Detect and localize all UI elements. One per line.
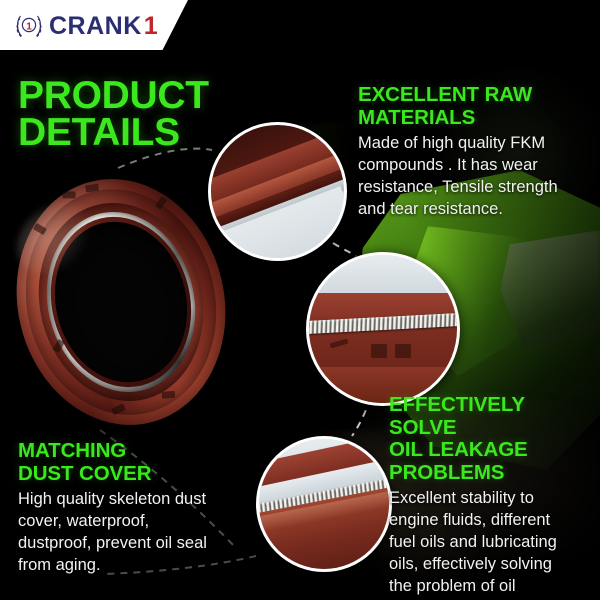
- svg-text:1: 1: [26, 20, 32, 32]
- feature-body-line: oils, effectively solving: [389, 554, 595, 576]
- feature-block-matching-dust-cover: MATCHING DUST COVER High quality skeleto…: [18, 440, 244, 577]
- feature-body-line: the problem of oil: [389, 576, 595, 598]
- feature-heading-line: EXCELLENT RAW: [358, 84, 592, 107]
- laurel-wreath-number-one-icon: 1: [14, 11, 44, 41]
- feature-heading-line: EFFECTIVELY SOLVE: [389, 394, 595, 439]
- callout-notch: [395, 344, 411, 358]
- product-details-infographic: 1 CRANK1 PRODUCT DETAILS EXCELLENT RAW M…: [0, 0, 600, 600]
- feature-body-line: cover, waterproof,: [18, 511, 244, 533]
- feature-body: High quality skeleton dust cover, waterp…: [18, 489, 244, 577]
- feature-body-line: Made of high quality FKM: [358, 133, 592, 155]
- callout-garter-spring-detail: [306, 252, 460, 406]
- feature-body: Excellent stability to engine fluids, di…: [389, 488, 595, 600]
- feature-body-line: dustproof, prevent oil seal: [18, 533, 244, 555]
- brand-logo[interactable]: 1 CRANK1: [14, 11, 158, 41]
- feature-heading-line: MATCHING: [18, 440, 244, 463]
- callout-seal-lip-detail: [256, 436, 392, 572]
- feature-block-excellent-raw-materials: EXCELLENT RAW MATERIALS Made of high qua…: [358, 84, 592, 221]
- feature-body-line: High quality skeleton dust: [18, 489, 244, 511]
- feature-body-line: compounds . It has wear: [358, 155, 592, 177]
- feature-block-effectively-solve-oil-leakage-problems: EFFECTIVELY SOLVE OIL LEAKAGE PROBLEMS E…: [389, 394, 595, 600]
- feature-body-line: Excellent stability to: [389, 488, 595, 510]
- feature-body: Made of high quality FKM compounds . It …: [358, 133, 592, 221]
- feature-body-line: fuel oils and lubricating: [389, 532, 595, 554]
- seal-marking: [162, 391, 175, 399]
- feature-heading-line: OIL LEAKAGE: [389, 439, 595, 462]
- feature-heading: MATCHING DUST COVER: [18, 440, 244, 485]
- feature-heading-line: PROBLEMS: [389, 462, 595, 485]
- feature-heading: EXCELLENT RAW MATERIALS: [358, 84, 592, 129]
- feature-heading-line: MATERIALS: [358, 107, 592, 130]
- page-title: PRODUCT DETAILS: [18, 78, 268, 151]
- callout-notch: [371, 344, 387, 358]
- feature-body-line: engine fluids, different: [389, 510, 595, 532]
- seal-marking: [63, 191, 76, 198]
- feature-heading-line: DUST COVER: [18, 463, 244, 486]
- feature-body-line: and tear resistance.: [358, 199, 592, 221]
- page-title-line1: PRODUCT: [18, 78, 268, 115]
- feature-heading: EFFECTIVELY SOLVE OIL LEAKAGE PROBLEMS: [389, 394, 595, 484]
- page-title-line2: DETAILS: [18, 115, 268, 152]
- feature-body-line: resistance, Tensile strength: [358, 177, 592, 199]
- brand-name-accent: 1: [144, 14, 158, 39]
- feature-body-line: from aging.: [18, 555, 244, 577]
- brand-name: CRANK: [49, 14, 142, 39]
